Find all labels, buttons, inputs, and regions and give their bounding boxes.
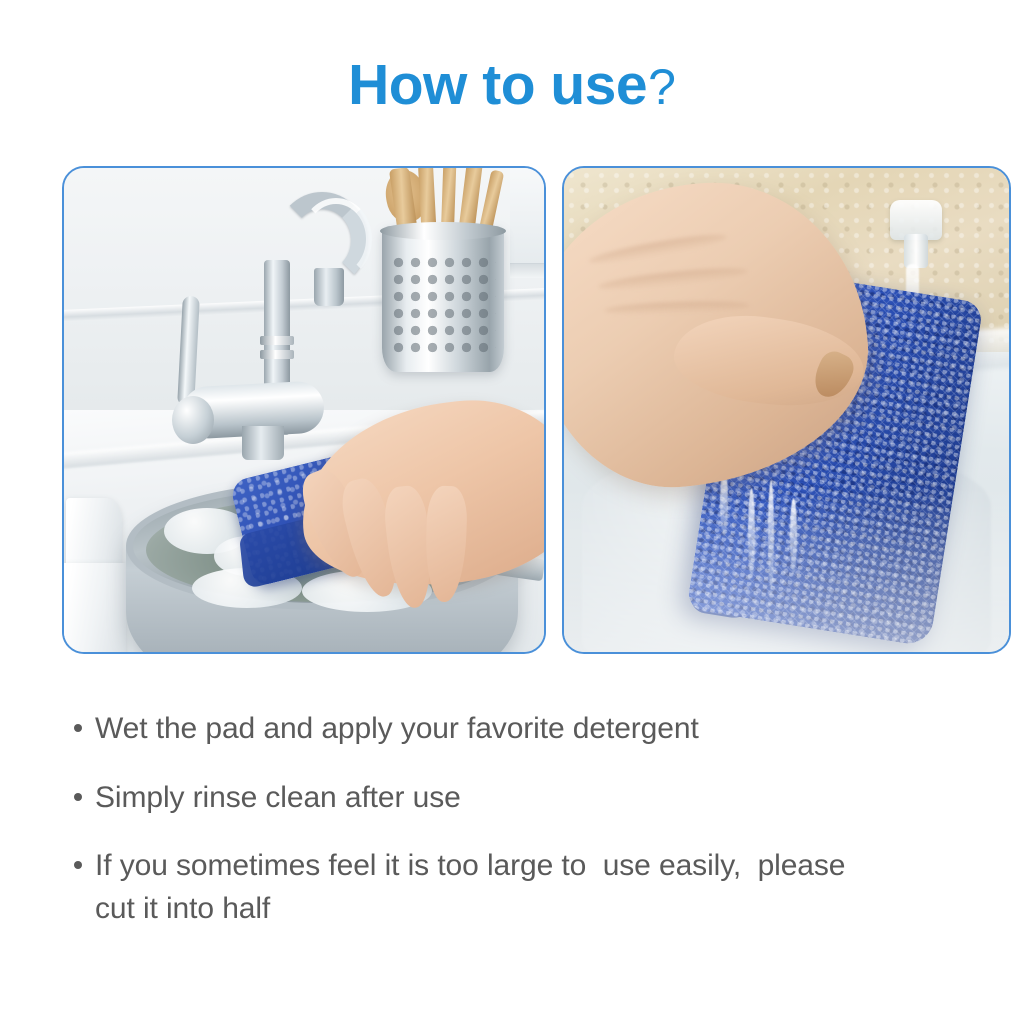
washing-pot-photo-scene [64, 168, 544, 652]
water-tap-neck [904, 234, 928, 268]
list-item: Simply rinse clean after use [74, 777, 1004, 820]
list-item: Wet the pad and apply your favorite dete… [74, 708, 1004, 751]
faucet-outlet [314, 268, 344, 306]
bullet-dot-icon [74, 861, 82, 869]
list-item-label: If you sometimes feel it is too large to… [95, 845, 845, 930]
water-mist [564, 487, 1009, 652]
page-title-text: How to use [348, 53, 647, 117]
list-item-label: Simply rinse clean after use [95, 777, 461, 820]
rinsing-pad-photo-scene [564, 168, 1009, 652]
bullet-dot-icon [74, 724, 82, 732]
washing-pot-photo [62, 166, 546, 654]
faucet-base [242, 426, 284, 460]
list-item-label: Wet the pad and apply your favorite dete… [95, 708, 699, 751]
page-title: How to use? [0, 52, 1024, 118]
background-shelf [510, 168, 544, 264]
white-cup [64, 563, 126, 652]
faucet-ring [260, 336, 294, 345]
utensil-holder-rim [380, 222, 506, 240]
faucet-knob [172, 396, 214, 444]
utensil-holder-perforations [390, 254, 496, 356]
background-shelf-edge [510, 264, 544, 278]
instructions-list: Wet the pad and apply your favorite dete… [74, 708, 1004, 956]
faucet-ring [260, 350, 294, 359]
list-item: If you sometimes feel it is too large to… [74, 845, 1004, 930]
bullet-dot-icon [74, 793, 82, 801]
question-mark-glyph: ? [648, 59, 676, 115]
rinsing-pad-photo [562, 166, 1011, 654]
